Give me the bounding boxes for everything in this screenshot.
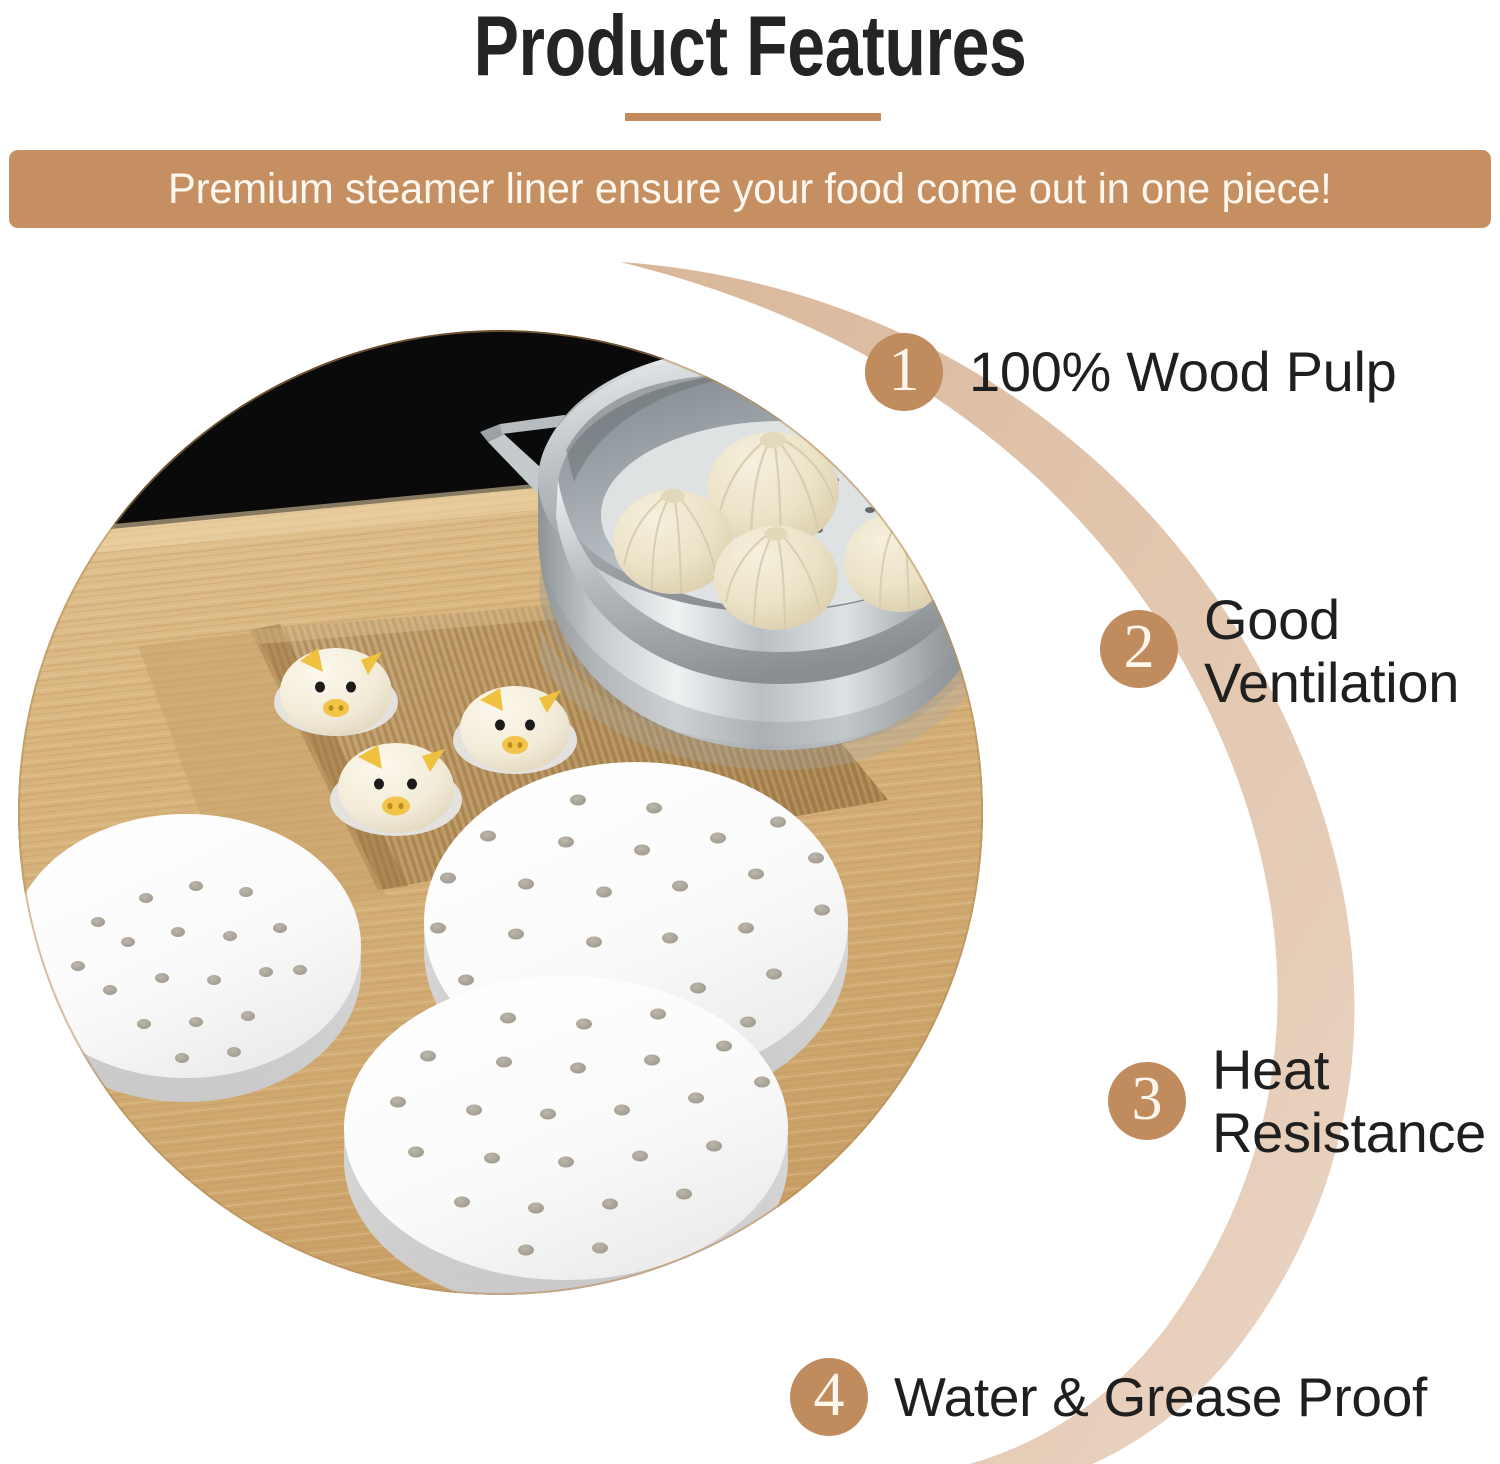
feature-item-3: 3 Heat Resistance bbox=[1108, 1038, 1486, 1165]
product-photo bbox=[18, 330, 983, 1295]
feature-badge-3: 3 bbox=[1108, 1062, 1186, 1140]
page-title: Product Features bbox=[150, 2, 1350, 91]
feature-item-1: 1 100% Wood Pulp bbox=[865, 333, 1397, 411]
feature-label-1: 100% Wood Pulp bbox=[969, 340, 1397, 403]
subtitle-banner: Premium steamer liner ensure your food c… bbox=[9, 150, 1491, 228]
subtitle-text: Premium steamer liner ensure your food c… bbox=[168, 165, 1332, 214]
feature-label-2: Good Ventilation bbox=[1204, 588, 1459, 715]
feature-label-3: Heat Resistance bbox=[1212, 1038, 1486, 1165]
feature-badge-4: 4 bbox=[790, 1358, 868, 1436]
feature-badge-2: 2 bbox=[1100, 610, 1178, 688]
feature-label-4: Water & Grease Proof bbox=[894, 1366, 1427, 1428]
product-photo-scene bbox=[18, 330, 983, 1295]
feature-badge-1: 1 bbox=[865, 333, 943, 411]
title-divider bbox=[625, 113, 881, 121]
feature-item-2: 2 Good Ventilation bbox=[1100, 584, 1459, 715]
feature-item-4: 4 Water & Grease Proof bbox=[790, 1358, 1427, 1436]
